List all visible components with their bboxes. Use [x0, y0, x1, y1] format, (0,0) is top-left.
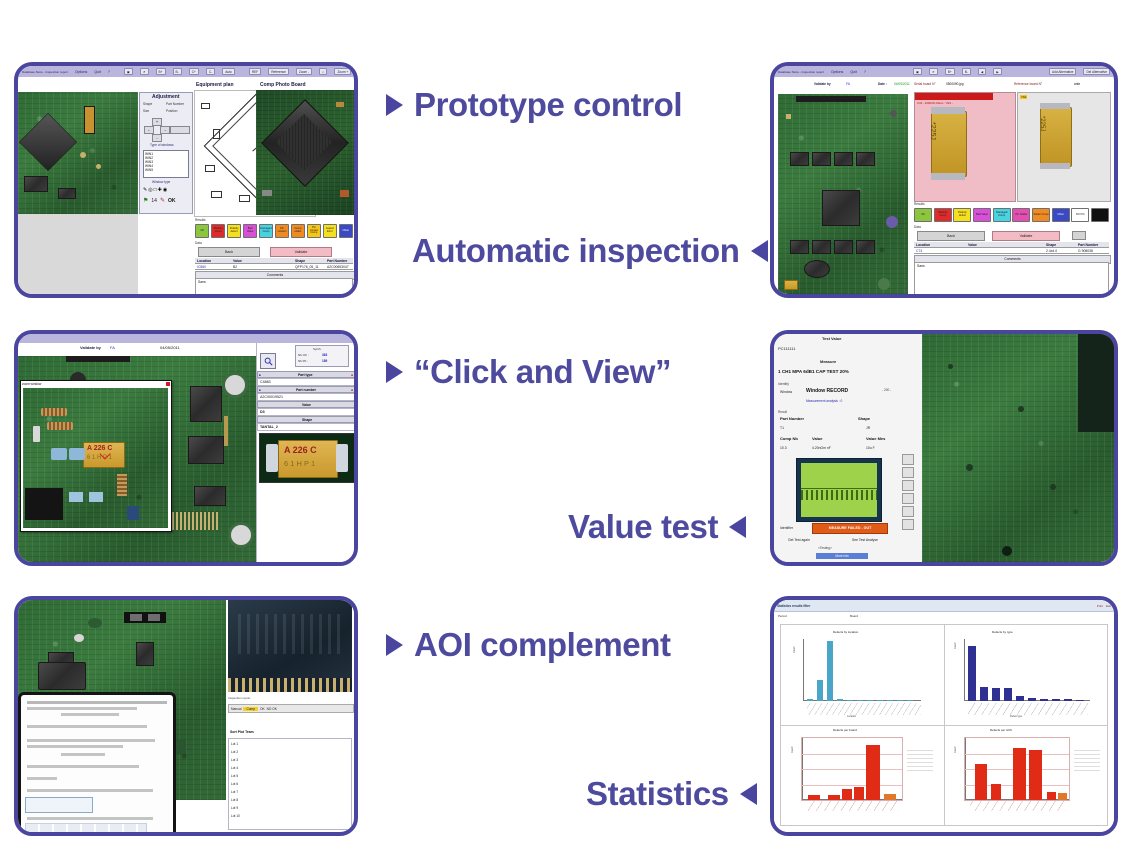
cell-shape: 2.4x4.0: [1044, 248, 1076, 253]
field-header-part-type: Part type ■ ■: [257, 371, 354, 378]
aoi-app: Inspection report Manual Comp OK NO OK S…: [18, 600, 354, 832]
row2-comp-nb: 10.3: [780, 446, 787, 450]
cell-shape: QFP176_05_11: [293, 264, 325, 269]
screenshot-statistics[interactable]: Statistics results filter Print Exit Per…: [770, 596, 1118, 836]
result-button-solder-comp[interactable]: Solder Comp: [1032, 208, 1050, 222]
toolbar-button-print[interactable]: Print: [1097, 604, 1103, 608]
result-button-damaged-comp[interactable]: Damaged Comp: [993, 208, 1011, 222]
toolbar-icon-3[interactable]: B+: [945, 68, 955, 75]
col-location: Location: [195, 258, 231, 263]
menu-item-help[interactable]: ?: [108, 70, 110, 74]
adjustment-title: Adjustment: [152, 94, 180, 100]
nb-pb-label: Nb Pb :: [298, 359, 308, 363]
footer-link-more[interactable]: More info: [816, 553, 868, 559]
field-value-value[interactable]: D3: [257, 408, 354, 416]
field-header-part-number: Part number ■ ■: [257, 386, 354, 393]
prototype-titlebar: Database Store - Inspection report Optio…: [18, 66, 354, 77]
footer-note: <Testing>: [818, 546, 832, 550]
result-button-polarity-defect[interactable]: Polarity defect: [953, 208, 971, 222]
result-button-missing-comp[interactable]: Missing Comp: [211, 224, 225, 238]
chart-4-title: Defects per shift: [990, 728, 1012, 732]
cell-partnumber: A2C00653047: [325, 264, 353, 269]
component-photo-reference: *225J: [1040, 107, 1072, 167]
validate-button[interactable]: Validate: [270, 247, 332, 257]
arrow-down-button[interactable]: -: [152, 134, 162, 142]
chart-4[interactable]: Defects per shift Count: [944, 725, 1107, 825]
toolbar-button-ref[interactable]: REF: [249, 68, 261, 75]
window-list-title: Type of windows: [150, 143, 174, 147]
properties-panel: Synth. Nb OK : 363 Nb Pb : 189 Part type…: [256, 343, 354, 562]
result-buttons-row[interactable]: OK Missing Comp Polarity defect Bad Valu…: [195, 224, 353, 238]
toolbar-icon-1[interactable]: ▣: [124, 68, 133, 75]
board-macro-photo[interactable]: [922, 334, 1114, 562]
toolbar-button-add-alternative[interactable]: Add Alternative: [1049, 68, 1076, 75]
col-value: Value: [812, 436, 822, 441]
tool-icon-3[interactable]: □: [154, 187, 157, 193]
chart-4-legend: [1074, 747, 1100, 771]
close-icon[interactable]: [166, 382, 170, 386]
results-label: Results: [914, 202, 925, 206]
field-value-shape[interactable]: TANTAL_2: [257, 423, 354, 431]
menu-item-options[interactable]: Options: [831, 70, 843, 74]
filter-label-board: Board: [850, 614, 858, 618]
result-button-comp-solder[interactable]: Comp solder: [291, 224, 305, 238]
arrow-left-button[interactable]: ←: [144, 126, 154, 134]
statistics-app: Statistics results filter Print Exit Per…: [774, 600, 1114, 832]
chart-1-ticklabels: [807, 703, 921, 715]
board-photo-main[interactable]: [778, 94, 908, 294]
serial-board-label: Serial board N°: [914, 82, 936, 86]
chart-3-legend: [907, 747, 933, 771]
cell-partnumber: G 908038: [1076, 248, 1109, 253]
field-value-part-number[interactable]: A2C00019521: [257, 393, 354, 401]
adjustment-panel: Adjustment Shape Part Number Size Positi…: [139, 92, 193, 214]
reference-board-label: Reference board N°: [1014, 82, 1042, 86]
triangle-right-icon: [386, 94, 403, 116]
error-banner-text: C44 - 100NOK-Manu : YES -: [917, 101, 953, 105]
chart-3[interactable]: Defects per board Count: [781, 725, 944, 825]
back-button[interactable]: Back: [917, 231, 985, 241]
result-button-missing-comp[interactable]: Missing Comp: [934, 208, 952, 222]
toolbar-icon-4[interactable]: B-: [173, 68, 182, 75]
pencil-icon[interactable]: ✎: [160, 197, 165, 204]
table-row[interactable]: IC560 B2 QFP176_05_11 A2C00653047: [195, 264, 353, 270]
action-row[interactable]: ⚑ 14 ✎ OK: [143, 197, 175, 204]
chart-1[interactable]: Defects by location: [781, 625, 944, 725]
toolbar-button-auto[interactable]: Auto: [222, 68, 235, 75]
autoinspect-app: Database Store - Inspection report Optio…: [774, 66, 1114, 294]
chart-3-ylabel: Count: [791, 747, 794, 753]
window-tool-row[interactable]: ✎ ◎ □ ✚ ◉: [143, 187, 167, 193]
field-header-shape: Shape: [257, 416, 354, 423]
chart-1-ylabel: Count: [793, 647, 796, 653]
chart-2-xlabel: Defect type: [1010, 715, 1022, 718]
menu-item-quit[interactable]: Quit: [94, 70, 101, 74]
statistics-titlebar: Statistics results filter Print Exit: [774, 600, 1114, 612]
result-button-pin-solution[interactable]: Pin solution: [275, 224, 289, 238]
toolbar-icon-1[interactable]: ▣: [913, 68, 922, 75]
list-item[interactable]: Lot 6: [231, 780, 349, 788]
tool-icon-2[interactable]: ◎: [148, 187, 152, 193]
cell-location: IC560: [195, 264, 231, 269]
chart-1-plot: [803, 639, 921, 701]
feature-label-text: Automatic inspection: [412, 232, 740, 270]
adjust-sub-position: Position: [166, 109, 177, 113]
toolbar-icon-4[interactable]: B-: [962, 68, 971, 75]
back-button[interactable]: Back: [198, 247, 260, 257]
nb-ok-label: Nb OK :: [298, 353, 309, 357]
note: Measurement analysis : 0: [806, 399, 842, 403]
table-row[interactable]: C74 2.4x4.0 G 908038: [914, 248, 1109, 254]
valuetest-app: Test Value PC111111 Measure 1 CH1 MPA 6d…: [774, 334, 1114, 562]
serial-board-value: 0500090.jpg: [946, 82, 964, 86]
validate-by-label: Validate by: [814, 82, 831, 86]
window-list[interactable]: WIN1 WIN2 WIN3 WIN4 WIN5: [143, 150, 189, 178]
extra-button[interactable]: [1072, 231, 1086, 240]
result-button-pin-contact[interactable]: Pin contact Comp: [307, 224, 321, 238]
comp-photo-title: Comp Photo Board: [260, 82, 306, 88]
result-button-ok[interactable]: OK: [914, 208, 932, 222]
chart-4-ticklabels: [970, 801, 1066, 811]
field-header-value: Value: [257, 401, 354, 408]
equipment-plan-title: Equipment plan: [196, 82, 234, 88]
zoom-window[interactable]: zoom window A 226 C 6 1 H P 1: [20, 380, 172, 532]
result-buttons-row[interactable]: OK Missing Comp Polarity defect Bad Valu…: [914, 208, 1109, 222]
result-button-other[interactable]: Other: [1052, 208, 1070, 222]
status-bar: MEASURE FAILED - OUT: [812, 523, 888, 534]
chart-2-title: Defects by type: [992, 630, 1013, 634]
chart-2[interactable]: Defects by type: [944, 625, 1107, 725]
feature-label-aoi-complement: AOI complement: [386, 626, 671, 664]
comments-field[interactable]: Sans: [195, 278, 353, 294]
menu-item-help[interactable]: ?: [864, 70, 866, 74]
data-label: Data: [914, 225, 921, 229]
col-shape: Shape: [293, 258, 325, 263]
result-button-damaged-comp[interactable]: Damaged Comp: [259, 224, 273, 238]
triangle-left-icon: [751, 240, 768, 262]
reference-tag: Y62: [1020, 95, 1027, 99]
col-partnumber: Part Number: [325, 258, 353, 263]
toolbar-button-exit[interactable]: Exit: [1106, 604, 1111, 608]
toolbar-button-ok[interactable]: OK: [260, 707, 265, 711]
autoinspect-data-table[interactable]: Location Value Shape Part Number C74 2.4…: [914, 242, 1109, 254]
aoi-list[interactable]: Lot 1 Lot 2 Lot 3 Lot 4 Lot 5 Lot 6 Lot …: [228, 738, 352, 830]
comments-field[interactable]: Sans: [914, 262, 1109, 294]
slide-canvas: Prototype control Automatic inspection “…: [0, 0, 1132, 852]
section-title: Measure: [820, 359, 836, 364]
scope-display[interactable]: [796, 458, 882, 522]
headline: 1 CH1 MPA 6dB1 CAP TEST 20%: [778, 369, 849, 374]
screenshot-automatic-inspection[interactable]: Database Store - Inspection report Optio…: [770, 62, 1118, 298]
chart-3-plot: [801, 737, 903, 801]
feature-label-text: Prototype control: [414, 86, 682, 124]
aoi-report-label: Inspection report: [228, 696, 354, 703]
col-comp-nb: Comp Nb: [780, 436, 798, 441]
nb-pb-value: 189: [322, 359, 327, 363]
autoinspect-titlebar: Database Store - Inspection report Optio…: [774, 66, 1114, 77]
feature-label-text: AOI complement: [414, 626, 671, 664]
feature-label-prototype-control: Prototype control: [386, 86, 682, 124]
triangle-right-icon: [386, 634, 403, 656]
preview-marking2: 6 1 H P 1: [284, 459, 315, 468]
col-part-number: Part Number: [780, 416, 804, 421]
result-button-blank[interactable]: [1091, 208, 1109, 222]
component-photo-current: *225J: [931, 111, 967, 177]
preview-marking: A 226 C: [284, 445, 317, 455]
feature-label-click-and-view: “Click and View”: [386, 353, 671, 391]
col-value: Value: [966, 242, 1044, 247]
adjust-group-shape[interactable]: Shape: [143, 102, 152, 106]
col-value-mes: Value Mes: [866, 436, 885, 441]
result-button-aspect-error[interactable]: Aspect Error: [323, 224, 337, 238]
col-partnumber: Part Number: [1076, 242, 1109, 247]
list-item[interactable]: Lot 2: [231, 748, 349, 756]
statistics-window-title: Statistics results filter: [777, 604, 810, 608]
chart-1-title: Defects by location: [833, 630, 858, 634]
adjust-group-partnumber[interactable]: Part Number: [166, 102, 184, 106]
chart-grid: Defects by location: [780, 624, 1108, 826]
adjust-sub-size: Size: [143, 109, 149, 113]
reference-board-value: ante: [1074, 82, 1080, 86]
arrow-up-button[interactable]: +: [152, 118, 162, 126]
comparison-pane-current[interactable]: C44 - 100NOK-Manu : YES - *225J: [914, 92, 1016, 202]
result-label: Result: [778, 410, 787, 414]
result-button-polarity-defect[interactable]: Polarity defect: [227, 224, 241, 238]
filter-label: Identify: [778, 382, 789, 386]
toolbar-button-reference[interactable]: Reference: [268, 68, 289, 75]
col-shape: Shape: [858, 416, 870, 421]
cell-value: B2: [231, 264, 293, 269]
result-button-bad-value[interactable]: Bad Value: [243, 224, 257, 238]
toolbar-button-del-alternative[interactable]: Del Alternative: [1083, 68, 1110, 75]
screenshot-prototype-control[interactable]: Database Store - Inspection report Optio…: [14, 62, 358, 298]
nb-ok-value: 363: [322, 353, 327, 357]
data-label: Data: [195, 241, 202, 245]
prototype-data-table[interactable]: Location Value Shape Part Number IC560 B…: [195, 258, 353, 270]
aoi-toolbar[interactable]: Manual Comp OK NO OK: [228, 704, 354, 713]
ic-photo[interactable]: [228, 600, 352, 692]
col-shape: Shape: [1044, 242, 1076, 247]
feature-label-text: Statistics: [586, 775, 729, 813]
triangle-left-icon: [729, 516, 746, 538]
window-title: Test Value: [822, 336, 842, 341]
toolbar-icon-6[interactable]: C-: [206, 68, 215, 75]
toolbar-icon-5[interactable]: C+: [189, 68, 199, 75]
toolbar-icon-3[interactable]: B+: [156, 68, 166, 75]
toolbar-button-manual[interactable]: Manual: [231, 707, 241, 711]
flag-icon[interactable]: ⚑: [143, 197, 148, 204]
list-item[interactable]: Lot 4: [231, 764, 349, 772]
feature-label-automatic-inspection: Automatic inspection: [412, 232, 768, 270]
filter-value: Window: [780, 390, 792, 394]
position-pad[interactable]: [170, 126, 190, 134]
triangle-left-icon: [740, 783, 757, 805]
chart-4-plot: [964, 737, 1070, 801]
result-button-bad-value[interactable]: Bad Value: [973, 208, 991, 222]
toolbar-icon-2[interactable]: ↺: [140, 68, 149, 75]
cell-value: [966, 248, 1044, 253]
toolbar-button-zoom-out[interactable]: Zoom -: [296, 68, 312, 75]
results-label: Results: [195, 218, 206, 222]
feature-label-statistics: Statistics: [586, 775, 757, 813]
report-document-overlay[interactable]: [18, 692, 176, 832]
col-value: Value: [231, 258, 293, 263]
list-item[interactable]: Lot 3: [231, 756, 349, 764]
ic-photo-panel: [226, 600, 354, 708]
scope-button-strip[interactable]: [902, 454, 914, 530]
row2-value: 4.20nOm nF: [812, 446, 831, 450]
comp-photo-canvas[interactable]: [256, 90, 354, 215]
tool-icon-5[interactable]: ◉: [163, 187, 167, 193]
screenshot-value-test[interactable]: Test Value PC111111 Measure 1 CH1 MPA 6d…: [770, 330, 1118, 566]
count-label: 14: [151, 198, 157, 204]
row2-value-mes: 10u F: [866, 446, 875, 450]
board-photo-left-bg: [18, 214, 138, 294]
list-item[interactable]: Lot 1: [231, 740, 349, 748]
list-item[interactable]: Lot 9: [231, 804, 349, 812]
menu-item-options[interactable]: Options: [75, 70, 87, 74]
list-item[interactable]: WIN5: [145, 168, 187, 172]
menu-item-quit[interactable]: Quit: [850, 70, 857, 74]
validate-button[interactable]: Validate: [992, 231, 1060, 241]
measure-result: Window RECORD: [806, 388, 848, 394]
chart-3-ticklabels: [807, 801, 899, 811]
validate-by-value: FA: [846, 82, 850, 86]
date-label: Date :: [878, 82, 887, 86]
comparison-pane-reference[interactable]: Y62 *225J: [1017, 92, 1111, 202]
component-preview[interactable]: A 226 C 6 1 H P 1: [259, 433, 354, 483]
chart-2-ylabel: Count: [954, 643, 957, 649]
chart-1-xlabel: Location: [847, 715, 856, 718]
arrow-right-button[interactable]: →: [160, 126, 170, 134]
toolbar-button-comp[interactable]: Comp: [243, 707, 258, 711]
error-banner: [915, 93, 993, 100]
clickview-app: Validate by FA 04/05/2011 zoom window: [18, 334, 354, 562]
col-location: Location: [914, 242, 966, 247]
date-value: 04/05/2011: [894, 82, 910, 86]
synth-label: Synth.: [313, 347, 322, 351]
menu-item-database[interactable]: Database Store - Inspection report: [22, 70, 68, 74]
row1-part-number: T1: [780, 426, 784, 430]
filter-label-period: Period: [778, 614, 787, 618]
chart-3-title: Defects per board: [833, 728, 857, 732]
feature-label-value-test: Value test: [568, 508, 746, 546]
toolbar-icon-5[interactable]: ◀: [978, 68, 986, 75]
result-button-pin-solder[interactable]: Pin Solder: [1012, 208, 1030, 222]
footer-link-2[interactable]: See Test Analyse: [852, 538, 878, 542]
validate-by-value: FA: [110, 345, 115, 350]
screenshot-aoi-complement[interactable]: Inspection report Manual Comp OK NO OK S…: [14, 596, 358, 836]
cell-location: C74: [914, 248, 966, 253]
field-value-part-type[interactable]: C4883: [257, 378, 354, 386]
board-id: PC111111: [778, 346, 795, 351]
toolbar-button-nok[interactable]: NO OK: [267, 707, 277, 711]
menu-item-database[interactable]: Database Store - Inspection report: [778, 70, 824, 74]
board-photo-left[interactable]: [18, 92, 138, 214]
toolbar-icon-7[interactable]: ◇: [319, 68, 327, 75]
list-item[interactable]: Lot 8: [231, 796, 349, 804]
magnifier-icon[interactable]: [260, 353, 276, 369]
chart-2-ticklabels: [968, 703, 1088, 715]
triangle-right-icon: [386, 361, 403, 383]
validate-by-label: Validate by: [80, 345, 101, 350]
toolbar-icon-6[interactable]: ▶: [993, 68, 1001, 75]
list-item[interactable]: Lot 5: [231, 772, 349, 780]
toolbar-icon-2[interactable]: ↺: [929, 68, 938, 75]
ok-button[interactable]: OK: [168, 198, 176, 204]
screenshot-click-and-view[interactable]: Validate by FA 04/05/2011 zoom window: [14, 330, 358, 566]
window-type-label: Window type: [152, 180, 170, 184]
list-item[interactable]: Lot 7: [231, 788, 349, 796]
chart-4-ylabel: Count: [954, 747, 957, 753]
result-button-no-pic[interactable]: NO PIC: [1071, 208, 1089, 222]
aoi-list-title: Sort Plot Team: [230, 730, 302, 734]
chart-2-plot: [964, 639, 1090, 701]
tool-icon-1[interactable]: ✎: [143, 187, 147, 193]
list-item[interactable]: Lot 10: [231, 812, 349, 820]
result-button-other[interactable]: Other: [339, 224, 353, 238]
toolbar-button-zoom-in[interactable]: Zoom +: [334, 68, 351, 75]
zoom-window-image: A 226 C 6 1 H P 1: [23, 388, 168, 528]
footer-link-1[interactable]: Get Test again: [788, 538, 810, 542]
zoom-window-title: zoom window: [22, 382, 41, 386]
feature-label-text: Value test: [568, 508, 718, 546]
clickview-titlebar: [18, 334, 354, 343]
result-button-ok[interactable]: OK: [195, 224, 209, 238]
tool-icon-4[interactable]: ✚: [158, 187, 162, 193]
synth-box: Synth. Nb OK : 363 Nb Pb : 189: [295, 345, 349, 367]
date-value: 04/05/2011: [160, 345, 180, 350]
row1-shape: JR: [866, 426, 870, 430]
feature-label-text: “Click and View”: [414, 353, 671, 391]
prototype-app: Database Store - Inspection report Optio…: [18, 66, 354, 294]
